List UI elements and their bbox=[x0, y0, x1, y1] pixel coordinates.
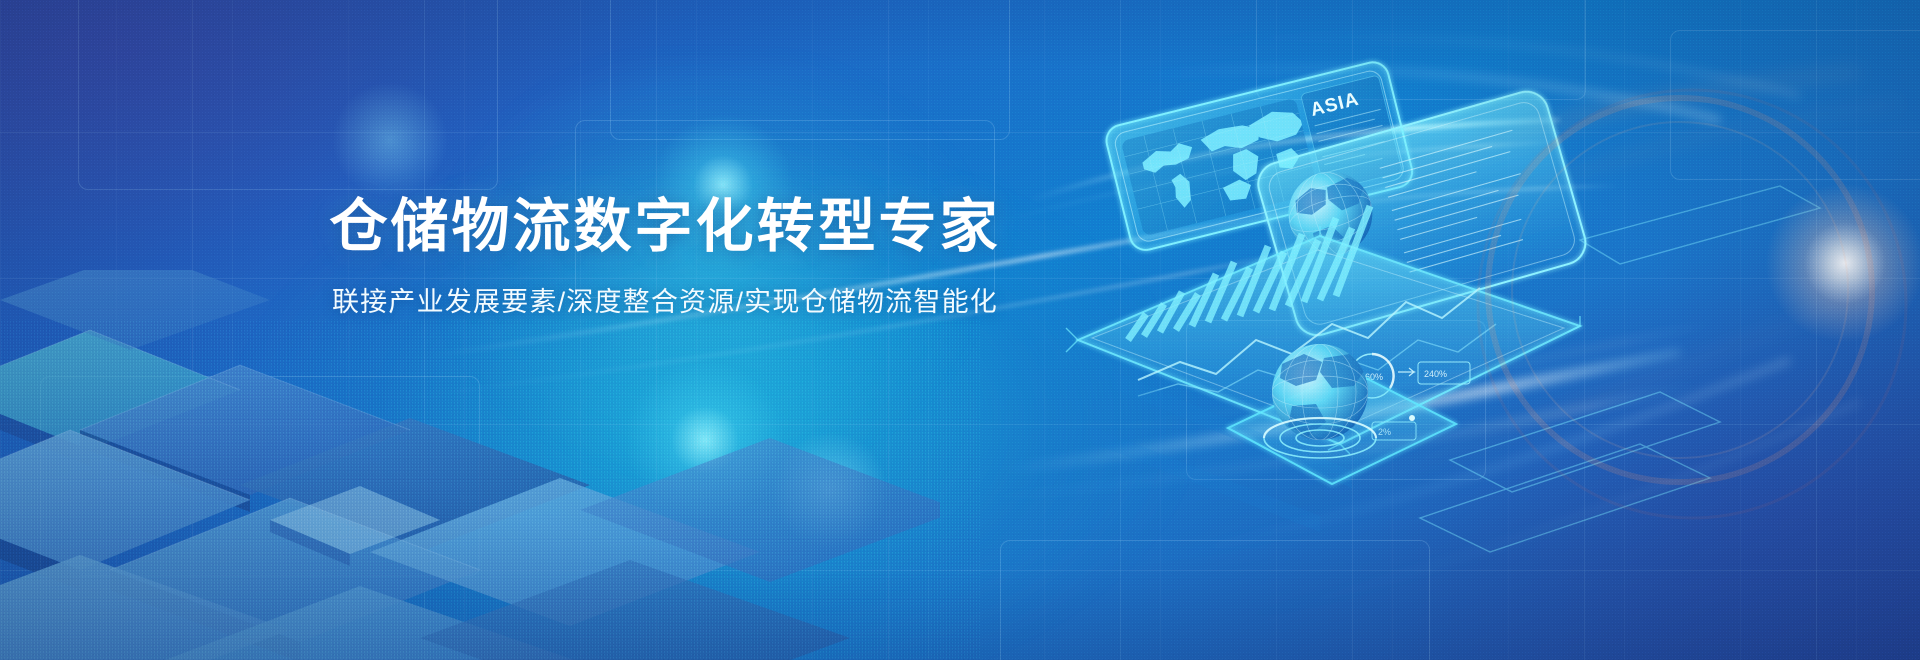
film-grain-overlay bbox=[0, 0, 1920, 660]
banner-root: ASIA bbox=[0, 0, 1920, 660]
